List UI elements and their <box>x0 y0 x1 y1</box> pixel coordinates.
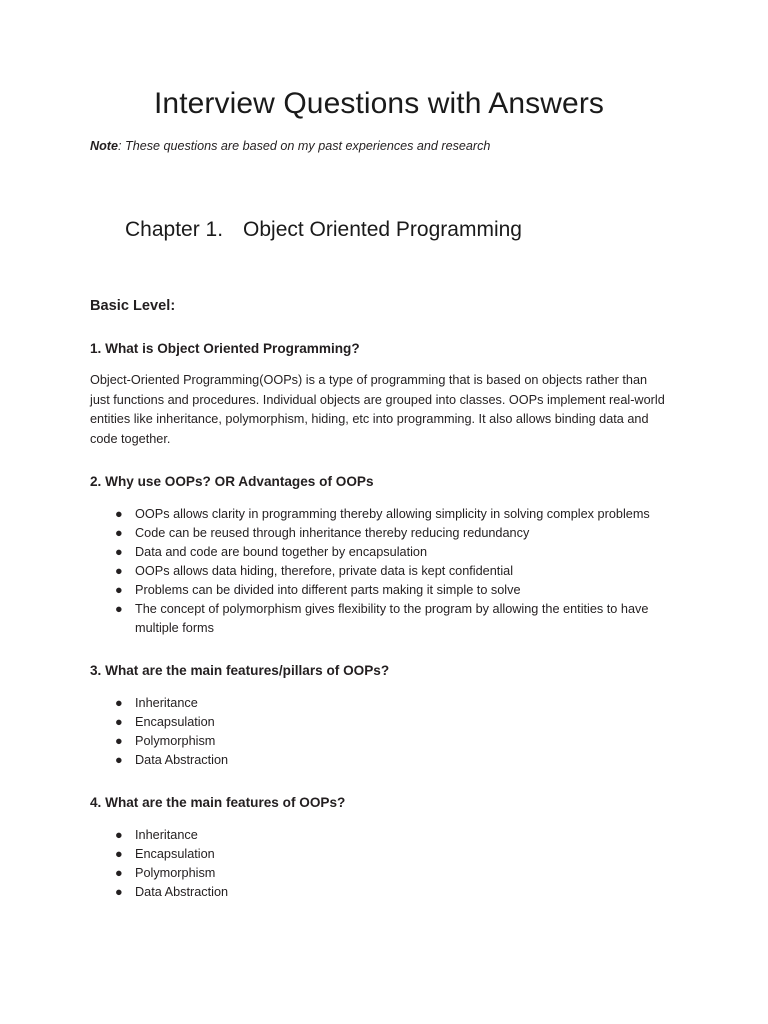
chapter-heading: Chapter 1.Object Oriented Programming <box>90 155 668 270</box>
list-item: ● Inheritance <box>90 826 668 845</box>
answer-paragraph-1: Object-Oriented Programming(OOPs) is a t… <box>90 358 668 449</box>
bullet-icon: ● <box>115 883 125 902</box>
list-item-label: Inheritance <box>135 828 198 842</box>
list-item-label: Encapsulation <box>135 715 215 729</box>
bullet-icon: ● <box>115 751 125 770</box>
list-item-label: OOPs allows clarity in programming there… <box>135 507 650 521</box>
document-content: Interview Questions with Answers Note: T… <box>90 0 668 902</box>
list-item-label: Data and code are bound together by enca… <box>135 545 427 559</box>
bullet-icon: ● <box>115 713 125 732</box>
list-item-label: Polymorphism <box>135 734 215 748</box>
list-item: ● Inheritance <box>90 694 668 713</box>
note-label: Note <box>90 139 118 153</box>
list-item: ● Data Abstraction <box>90 883 668 902</box>
answer-list-3: ● Inheritance ● Encapsulation ● Polymorp… <box>90 680 668 770</box>
list-item: ● Polymorphism <box>90 864 668 883</box>
list-item-label: Inheritance <box>135 696 198 710</box>
answer-list-4: ● Inheritance ● Encapsulation ● Polymorp… <box>90 812 668 902</box>
page-title: Interview Questions with Answers <box>90 0 668 122</box>
question-heading-4: 4. What are the main features of OOPs? <box>90 770 668 812</box>
list-item-label: Encapsulation <box>135 847 215 861</box>
list-item: ● Encapsulation <box>90 713 668 732</box>
list-item-label: OOPs allows data hiding, therefore, priv… <box>135 564 513 578</box>
list-item: ● Data Abstraction <box>90 751 668 770</box>
bullet-icon: ● <box>115 694 125 713</box>
question-heading-2: 2. Why use OOPs? OR Advantages of OOPs <box>90 449 668 491</box>
list-item-label: The concept of polymorphism gives flexib… <box>135 602 648 635</box>
list-item-label: Data Abstraction <box>135 753 228 767</box>
list-item: ● Polymorphism <box>90 732 668 751</box>
question-heading-3: 3. What are the main features/pillars of… <box>90 638 668 680</box>
bullet-icon: ● <box>115 505 125 524</box>
list-item: ● OOPs allows data hiding, therefore, pr… <box>90 562 668 581</box>
chapter-number: Chapter 1. <box>125 216 243 243</box>
bullet-icon: ● <box>115 826 125 845</box>
list-item: ● OOPs allows clarity in programming the… <box>90 505 668 524</box>
list-item-label: Polymorphism <box>135 866 215 880</box>
bullet-icon: ● <box>115 543 125 562</box>
bullet-icon: ● <box>115 581 125 600</box>
bullet-icon: ● <box>115 864 125 883</box>
list-item: ● Encapsulation <box>90 845 668 864</box>
chapter-name: Object Oriented Programming <box>243 218 522 241</box>
bullet-icon: ● <box>115 524 125 543</box>
bullet-icon: ● <box>115 732 125 751</box>
list-item: ● The concept of polymorphism gives flex… <box>90 600 668 638</box>
question-heading-1: 1. What is Object Oriented Programming? <box>90 316 668 358</box>
section-label-basic-level: Basic Level: <box>90 270 668 316</box>
list-item-label: Code can be reused through inheritance t… <box>135 526 529 540</box>
bullet-icon: ● <box>115 562 125 581</box>
bullet-icon: ● <box>115 600 125 619</box>
answer-list-2: ● OOPs allows clarity in programming the… <box>90 491 668 638</box>
document-page: Interview Questions with Answers Note: T… <box>0 0 768 1024</box>
list-item: ● Problems can be divided into different… <box>90 581 668 600</box>
list-item-label: Problems can be divided into different p… <box>135 583 521 597</box>
list-item: ● Code can be reused through inheritance… <box>90 524 668 543</box>
list-item: ● Data and code are bound together by en… <box>90 543 668 562</box>
note-line: Note: These questions are based on my pa… <box>90 122 668 155</box>
list-item-label: Data Abstraction <box>135 885 228 899</box>
note-text: : These questions are based on my past e… <box>118 139 490 153</box>
bullet-icon: ● <box>115 845 125 864</box>
